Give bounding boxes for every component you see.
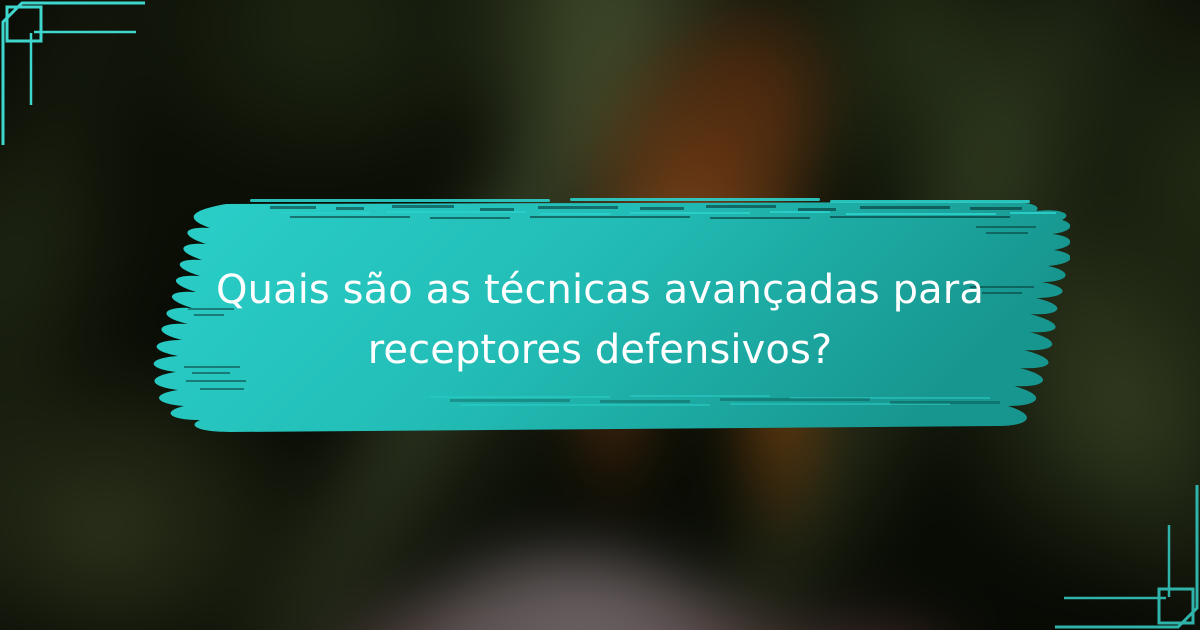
brush-stroke-banner [130, 180, 1070, 460]
corner-ornament-bottom-right [1050, 485, 1200, 630]
corner-ornament-top-left [0, 0, 150, 145]
social-card: Quais são as técnicas avançadas para rec… [0, 0, 1200, 630]
corner-bracket-icon [1055, 485, 1197, 627]
corner-bracket-icon [3, 3, 145, 145]
